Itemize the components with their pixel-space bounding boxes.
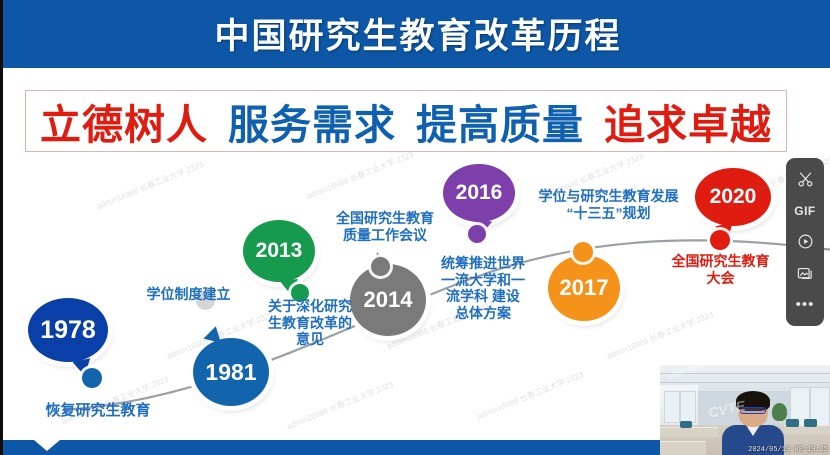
slide-screen: 中国研究生教育改革历程 立德树人 服务需求 提高质量 追求卓越 1978 恢复研… <box>0 0 830 455</box>
video-participant-thumbnail[interactable]: admin16986 CVTE 2024/05/19 08:19:25 <box>660 365 830 455</box>
more-icon[interactable]: ••• <box>792 292 818 316</box>
video-plant <box>772 403 787 421</box>
timeline-year-2017: 2017 <box>560 275 609 301</box>
timeline-dot-2014[interactable] <box>371 257 390 276</box>
timeline-bubble-1978[interactable]: 1978 <box>28 298 108 362</box>
video-desk <box>660 427 718 437</box>
timeline-dot-2017[interactable] <box>573 242 593 262</box>
slogan-item-3: 提高质量 <box>416 91 584 151</box>
timeline-year-2013: 2013 <box>256 239 303 263</box>
timeline-caption-2014: 全国研究生教育 质量工作会议 <box>319 210 451 243</box>
timeline-caption-2020: 全国研究生教育 大会 <box>653 253 788 286</box>
slogan-item-4: 追求卓越 <box>604 91 772 151</box>
timeline-caption-2016: 统筹推进世界 一流大学和一 流学科 建设 总体方案 <box>428 255 538 321</box>
slogan-item-1: 立德树人 <box>40 91 208 151</box>
video-chair <box>786 419 799 427</box>
record-icon[interactable] <box>792 230 818 254</box>
video-chair <box>680 421 692 428</box>
timeline-caption-2017: 学位与研究生教育发展 “十三五”规划 <box>521 188 696 221</box>
timeline-year-1981: 1981 <box>205 359 256 386</box>
gif-icon[interactable]: GIF <box>792 199 818 223</box>
timeline-bubble-2013[interactable]: 2013 <box>243 220 315 282</box>
timeline-dot-2020[interactable] <box>710 230 730 250</box>
timeline-dot-1978[interactable] <box>82 368 102 388</box>
slogan-item-2: 服务需求 <box>228 91 396 151</box>
timeline-year-2014: 2014 <box>364 287 413 313</box>
timeline-bubble-2020[interactable]: 2020 <box>695 168 771 226</box>
timeline-bubble-2016[interactable]: 2016 <box>443 164 515 222</box>
timeline-caption-1978: 恢复研究生教育 <box>33 402 163 420</box>
page-title: 中国研究生教育改革历程 <box>3 8 830 59</box>
slogan-band: 立德树人 服务需求 提高质量 追求卓越 <box>25 90 787 152</box>
floating-toolbar: GIF ••• <box>786 158 824 326</box>
video-timestamp: 2024/05/19 08:19:25 <box>748 446 828 454</box>
timeline-bubble-2017[interactable]: 2017 <box>548 255 620 321</box>
gallery-icon[interactable] <box>792 261 818 285</box>
scissors-icon[interactable] <box>792 168 818 192</box>
timeline-caption-2013: 关于深化研究 生教育改革的 意见 <box>251 298 369 348</box>
slide-header: 中国研究生教育改革历程 <box>3 0 830 68</box>
timeline-year-2020: 2020 <box>710 185 757 209</box>
video-desk <box>660 441 706 455</box>
video-window <box>680 391 696 423</box>
timeline-year-2016: 2016 <box>456 181 503 205</box>
timeline-dot-2016[interactable] <box>468 225 486 243</box>
timeline-year-1978: 1978 <box>40 316 96 345</box>
timeline-bubble-1981[interactable]: 1981 <box>193 338 269 406</box>
timeline-caption-1981: 学位制度建立 <box>116 286 261 303</box>
video-chair <box>804 419 817 427</box>
video-ceiling-line <box>660 382 830 383</box>
footer-notch-triangle <box>34 440 60 451</box>
video-window <box>664 391 680 423</box>
